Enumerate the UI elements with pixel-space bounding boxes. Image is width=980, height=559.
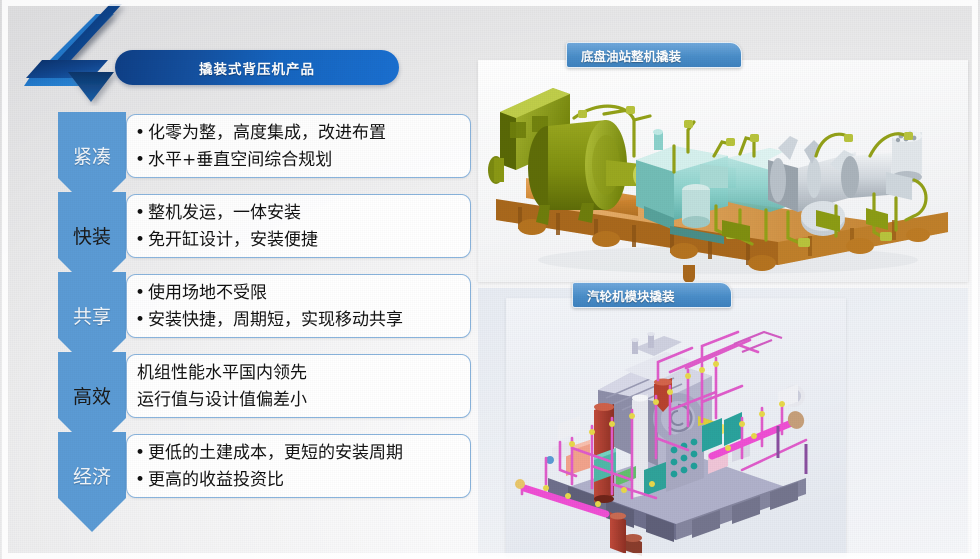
feature-bullet-line: •水平+垂直空间综合规划 (135, 147, 464, 174)
feature-key-label: 快装 (58, 222, 126, 249)
feature-text-box: 机组性能水平国内领先运行值与设计值偏差小 (126, 354, 471, 418)
feature-list: 紧凑•化零为整，高度集成，改进布置•水平+垂直空间综合规划快装•整机发运，一体安… (58, 112, 473, 532)
feature-line-text: 机组性能水平国内领先 (137, 360, 307, 387)
bullet-marker: • (135, 307, 145, 334)
feature-bullet-line: •使用场地不受限 (135, 280, 464, 307)
feature-key-label: 经济 (58, 462, 126, 489)
steam-turbine-module-skid-image (506, 298, 846, 556)
feature-row: 紧凑•化零为整，高度集成，改进布置•水平+垂直空间综合规划 (58, 112, 473, 184)
feature-line-text: 使用场地不受限 (148, 280, 267, 307)
feature-key-label: 共享 (58, 302, 126, 329)
bullet-marker: • (135, 120, 145, 147)
feature-key-label: 紧凑 (58, 142, 126, 169)
bullet-marker: • (135, 227, 145, 254)
feature-line-text: 运行值与设计值偏差小 (137, 387, 307, 414)
feature-line-text: 水平+垂直空间综合规划 (148, 147, 332, 174)
bullet-marker: • (135, 440, 145, 467)
slide-canvas: 撬装式背压机产品 紧凑•化零为整，高度集成，改进布置•水平+垂直空间综合规划快装… (0, 0, 980, 559)
feature-text-box: •整机发运，一体安装•免开缸设计，安装便捷 (126, 194, 471, 258)
feature-text-box: •使用场地不受限•安装快捷，周期短，实现移动共享 (126, 274, 471, 338)
feature-text-box: •更低的土建成本，更短的安装周期•更高的收益投资比 (126, 434, 471, 498)
feature-bullet-line: 运行值与设计值偏差小 (135, 387, 464, 414)
feature-line-text: 整机发运，一体安装 (148, 200, 301, 227)
bullet-marker: • (135, 467, 145, 494)
feature-line-text: 安装快捷，周期短，实现移动共享 (148, 307, 403, 334)
image-caption-1: 底盘油站整机撬装 (566, 42, 742, 68)
bullet-marker: • (135, 147, 145, 174)
bullet-marker: • (135, 200, 145, 227)
feature-line-text: 化零为整，高度集成，改进布置 (148, 120, 386, 147)
feature-bullet-line: •整机发运，一体安装 (135, 200, 464, 227)
feature-bullet-line: •化零为整，高度集成，改进布置 (135, 120, 464, 147)
feature-row: 快装•整机发运，一体安装•免开缸设计，安装便捷 (58, 192, 473, 264)
feature-line-text: 更低的土建成本，更短的安装周期 (148, 440, 403, 467)
feature-key-label: 高效 (58, 382, 126, 409)
feature-row: 共享•使用场地不受限•安装快捷，周期短，实现移动共享 (58, 272, 473, 344)
slide-title-banner: 撬装式背压机产品 (115, 50, 399, 85)
feature-line-text: 更高的收益投资比 (148, 467, 284, 494)
feature-row: 高效机组性能水平国内领先运行值与设计值偏差小 (58, 352, 473, 424)
feature-text-box: •化零为整，高度集成，改进布置•水平+垂直空间综合规划 (126, 114, 471, 178)
feature-bullet-line: •更低的土建成本，更短的安装周期 (135, 440, 464, 467)
page-title: 撬装式背压机产品 (199, 58, 315, 78)
feature-bullet-line: •更高的收益投资比 (135, 467, 464, 494)
feature-bullet-line: •免开缸设计，安装便捷 (135, 227, 464, 254)
image-caption-2: 汽轮机模块撬装 (572, 282, 732, 308)
caption-text: 汽轮机模块撬装 (587, 286, 675, 305)
feature-bullet-line: 机组性能水平国内领先 (135, 360, 464, 387)
feature-line-text: 免开缸设计，安装便捷 (148, 227, 318, 254)
chassis-oil-station-skid-image (478, 60, 968, 282)
bullet-marker: • (135, 280, 145, 307)
feature-row: 经济•更低的土建成本，更短的安装周期•更高的收益投资比 (58, 432, 473, 504)
feature-bullet-line: •安装快捷，周期短，实现移动共享 (135, 307, 464, 334)
caption-text: 底盘油站整机撬装 (581, 46, 681, 65)
